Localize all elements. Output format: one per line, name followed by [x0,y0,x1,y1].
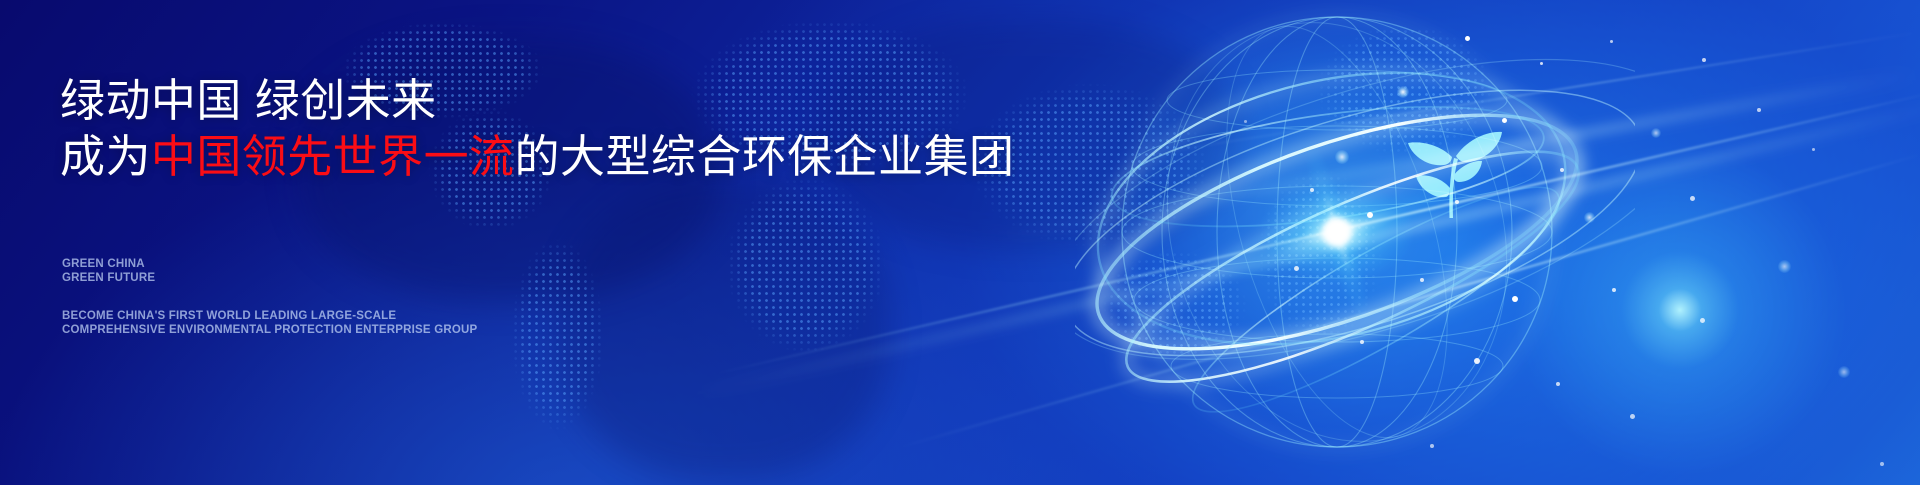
headline-line-2: 成为中国领先世界一流的大型综合环保企业集团 [60,134,1014,179]
hero-banner: 绿动中国 绿创未来 成为中国领先世界一流的大型综合环保企业集团 GREEN CH… [0,0,1920,485]
headline-suffix: 的大型综合环保企业集团 [515,131,1015,182]
english-description-line-2: COMPREHENSIVE ENVIRONMENTAL PROTECTION E… [62,324,477,338]
headline-line-1: 绿动中国 绿创未来 [60,78,437,123]
banner-copy: 绿动中国 绿创未来 成为中国领先世界一流的大型综合环保企业集团 GREEN CH… [60,0,1060,485]
english-tagline: GREEN CHINA GREEN FUTURE [62,258,155,285]
english-tagline-line-2: GREEN FUTURE [62,272,155,286]
sprout-icon [1392,110,1512,230]
headline-prefix: 成为 [60,131,151,182]
globe-core-glow [1470,145,1890,475]
globe-icon [1075,0,1635,485]
english-description-line-1: BECOME CHINA'S FIRST WORLD LEADING LARGE… [62,310,477,324]
english-tagline-line-1: GREEN CHINA [62,258,155,272]
headline-highlight: 中国领先世界一流 [151,131,515,182]
english-description: BECOME CHINA'S FIRST WORLD LEADING LARGE… [62,310,477,337]
